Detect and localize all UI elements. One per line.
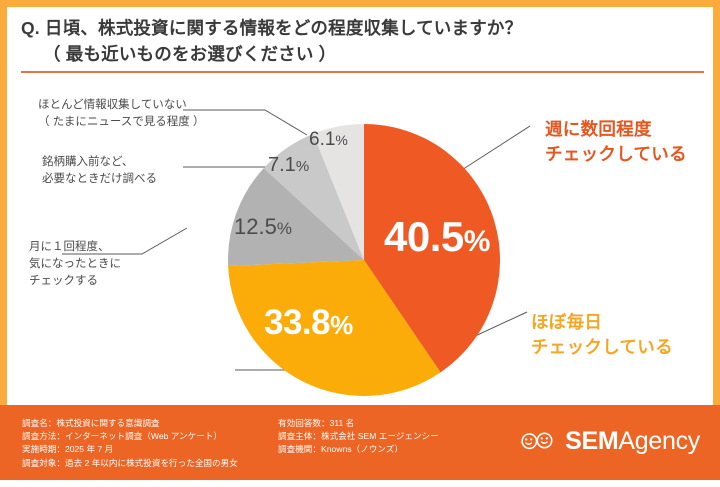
- annotation-monthly-line-2: 気になったときに: [29, 256, 121, 273]
- callout-daily-line-2: チェックしている: [531, 335, 673, 360]
- survey-meta-left: 調査名：株式投資に関する意識調査 調査方法：インターネット調査（Web アンケー…: [22, 417, 238, 470]
- annotation-monthly-line-3: チェックする: [29, 273, 121, 290]
- infographic-canvas: Q. 日頃、株式投資に関する情報をどの程度収集していますか？ （ 最も近いものを…: [0, 0, 720, 480]
- annotation-asneeded: 銘柄購入前など、 必要なときだけ調べる: [42, 154, 157, 188]
- annotation-monthly: 月に１回程度、 気になったときに チェックする: [29, 239, 121, 290]
- survey-period: 実施時期：2025 年 7 月: [22, 443, 238, 456]
- slice-label-monthly: 12.5%: [234, 214, 292, 240]
- valid-responses: 有効回答数：311 名: [278, 417, 439, 430]
- annotation-monthly-line-1: 月に１回程度、: [29, 239, 121, 256]
- survey-meta-right: 有効回答数：311 名 調査主体：株式会社 SEM エージェンシー 調査機関：K…: [278, 417, 439, 457]
- annotation-rarely-line-2: （ たまにニュースで見る程度 ）: [38, 114, 204, 131]
- footer-bar: 調査名：株式投資に関する意識調査 調査方法：インターネット調査（Web アンケー…: [0, 405, 720, 480]
- survey-institution: 調査機関：Knowns（ノウンズ）: [278, 443, 439, 456]
- smiley-faces-icon: [520, 429, 558, 455]
- logo-brand: SEM: [565, 427, 618, 455]
- title-divider: [21, 71, 704, 73]
- annotation-asneeded-line-1: 銘柄購入前など、: [42, 154, 157, 171]
- title-line-1: Q. 日頃、株式投資に関する情報をどの程度収集していますか？: [21, 15, 699, 41]
- survey-method: 調査方法：インターネット調査（Web アンケート）: [22, 430, 238, 443]
- callout-daily: ほぼ毎日 チェックしている: [531, 310, 673, 360]
- callout-weekly-line-1: 週に数回程度: [545, 117, 687, 142]
- sem-agency-logo: SEMAgency: [520, 427, 700, 456]
- annotation-asneeded-line-2: 必要なときだけ調べる: [42, 171, 157, 188]
- callout-daily-line-1: ほぼ毎日: [531, 310, 673, 335]
- annotation-rarely-line-1: ほとんど情報収集していない: [38, 97, 204, 114]
- survey-target: 調査対象：過去 2 年以内に株式投資を行った全国の男女: [22, 457, 238, 470]
- callout-weekly-line-2: チェックしている: [545, 142, 687, 167]
- callout-weekly: 週に数回程度 チェックしている: [545, 117, 687, 167]
- slice-label-weekly: 40.5%: [384, 213, 490, 261]
- logo-text: SEMAgency: [565, 427, 700, 456]
- title-line-2: （ 最も近いものをお選びください ）: [21, 41, 699, 67]
- survey-name: 調査名：株式投資に関する意識調査: [22, 417, 238, 430]
- page-title: Q. 日頃、株式投資に関する情報をどの程度収集していますか？ （ 最も近いものを…: [21, 15, 699, 67]
- survey-sponsor: 調査主体：株式会社 SEM エージェンシー: [278, 430, 439, 443]
- logo-suffix: Agency: [618, 427, 700, 455]
- slice-label-rarely: 6.1%: [309, 129, 348, 151]
- slice-label-daily: 33.8%: [264, 303, 353, 343]
- slice-label-asneeded: 7.1%: [268, 154, 309, 177]
- annotation-rarely: ほとんど情報収集していない （ たまにニュースで見る程度 ）: [38, 97, 204, 131]
